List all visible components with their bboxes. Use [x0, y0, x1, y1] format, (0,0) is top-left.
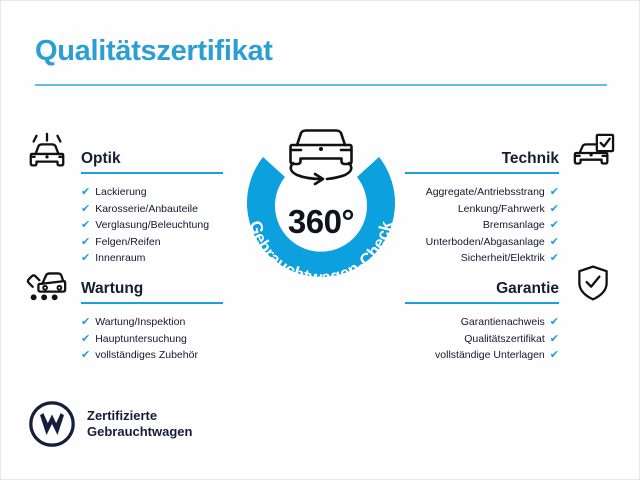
checklist-item-label: Lenkung/Fahrwerk	[458, 201, 545, 218]
checklist-item: ✔ Felgen/Reifen	[81, 234, 223, 251]
check-icon: ✔	[81, 201, 90, 218]
check-icon: ✔	[550, 314, 559, 331]
section-underline	[81, 172, 223, 174]
section-garantie: Garantie Garantienachweis ✔ Qualitätszer…	[405, 259, 617, 364]
checklist-item: vollständige Unterlagen ✔	[405, 347, 559, 364]
checklist-item-label: Qualitätszertifikat	[464, 331, 545, 348]
checklist-technik: Aggregate/Antriebsstrang ✔ Lenkung/Fahrw…	[405, 184, 617, 267]
section-underline	[405, 172, 559, 174]
section-title-technik: Technik	[405, 150, 559, 168]
section-title-wartung: Wartung	[81, 280, 223, 298]
checklist-item: Lenkung/Fahrwerk ✔	[405, 201, 559, 218]
section-optik: Optik ✔ Lackierung ✔ Karosserie/Anbautei…	[23, 129, 223, 267]
checklist-item-label: Felgen/Reifen	[95, 234, 160, 251]
checklist-item: Aggregate/Antriebsstrang ✔	[405, 184, 559, 201]
checklist-item: ✔ vollständiges Zubehör	[81, 347, 223, 364]
checklist-optik: ✔ Lackierung ✔ Karosserie/Anbauteile ✔ V…	[23, 184, 223, 267]
checklist-item: ✔ Verglasung/Beleuchtung	[81, 217, 223, 234]
car-lift-wrench-icon	[23, 261, 71, 305]
section-underline	[81, 302, 223, 304]
check-icon: ✔	[81, 217, 90, 234]
section-header-wartung: Wartung	[23, 259, 223, 305]
checklist-item-label: Lackierung	[95, 184, 146, 201]
checklist-item-label: Wartung/Inspektion	[95, 314, 185, 331]
checklist-item: ✔ Lackierung	[81, 184, 223, 201]
check-icon: ✔	[550, 217, 559, 234]
page-title: Qualitätszertifikat	[35, 35, 273, 68]
checklist-item-label: Aggregate/Antriebsstrang	[426, 184, 545, 201]
car-checkbox-icon	[569, 131, 617, 175]
checklist-item-label: Garantienachweis	[461, 314, 545, 331]
section-wartung: Wartung ✔ Wartung/Inspektion ✔ Hauptunte…	[23, 259, 223, 364]
checklist-item: ✔ Karosserie/Anbauteile	[81, 201, 223, 218]
certificate-page: Qualitätszertifikat	[0, 0, 640, 480]
check-icon: ✔	[81, 234, 90, 251]
shield-check-icon	[569, 261, 617, 305]
checklist-item-label: Karosserie/Anbauteile	[95, 201, 198, 218]
checklist-item-label: Hauptuntersuchung	[95, 331, 187, 348]
badge-value-360: 360°	[223, 203, 419, 241]
volkswagen-logo	[29, 401, 75, 447]
checklist-item-label: Verglasung/Beleuchtung	[95, 217, 209, 234]
checklist-item-label: vollständiges Zubehör	[95, 347, 198, 364]
check-icon: ✔	[550, 184, 559, 201]
checklist-item: Qualitätszertifikat ✔	[405, 331, 559, 348]
check-icon: ✔	[81, 331, 90, 348]
checklist-item: Unterboden/Abgasanlage ✔	[405, 234, 559, 251]
section-header-technik: Technik	[405, 129, 617, 175]
footer-brand-text: Zertifizierte Gebrauchtwagen	[87, 408, 192, 440]
check-icon: ✔	[81, 347, 90, 364]
check-icon: ✔	[81, 184, 90, 201]
checklist-item-label: Unterboden/Abgasanlage	[426, 234, 545, 251]
badge-360-gebrauchtwagen-check: Gebrauchtwagen-Check 360°	[223, 113, 419, 309]
section-title-garantie: Garantie	[405, 280, 559, 298]
footer-line-2: Gebrauchtwagen	[87, 424, 192, 440]
checklist-garantie: Garantienachweis ✔ Qualitätszertifikat ✔…	[405, 314, 617, 364]
section-underline	[405, 302, 559, 304]
footer-brand-lockup: Zertifizierte Gebrauchtwagen	[29, 401, 192, 447]
check-icon: ✔	[550, 234, 559, 251]
footer-line-1: Zertifizierte	[87, 408, 192, 424]
check-icon: ✔	[81, 314, 90, 331]
checklist-item: ✔ Wartung/Inspektion	[81, 314, 223, 331]
section-header-garantie: Garantie	[405, 259, 617, 305]
checklist-item: Garantienachweis ✔	[405, 314, 559, 331]
checklist-item-label: vollständige Unterlagen	[435, 347, 545, 364]
checklist-item: ✔ Hauptuntersuchung	[81, 331, 223, 348]
section-technik: Technik Aggregate/Antriebsstrang ✔ Lenku…	[405, 129, 617, 267]
checklist-item: Bremsanlage ✔	[405, 217, 559, 234]
checklist-item-label: Bremsanlage	[483, 217, 545, 234]
car-rotate-360-icon	[291, 131, 352, 185]
checklist-wartung: ✔ Wartung/Inspektion ✔ Hauptuntersuchung…	[23, 314, 223, 364]
check-icon: ✔	[550, 331, 559, 348]
car-shine-icon	[23, 131, 71, 175]
title-divider	[35, 84, 607, 86]
section-title-optik: Optik	[81, 150, 223, 168]
check-icon: ✔	[550, 347, 559, 364]
check-icon: ✔	[550, 201, 559, 218]
section-header-optik: Optik	[23, 129, 223, 175]
